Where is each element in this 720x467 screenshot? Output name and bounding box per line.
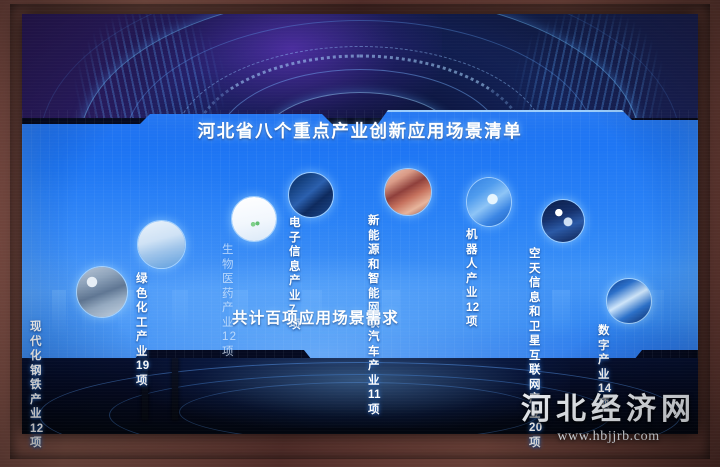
slide-title: 河北省八个重点产业创新应用场景清单 — [0, 118, 720, 143]
watermark: 河北经济网 www.hbjjrb.com — [521, 384, 696, 445]
industry-label-robot: 机器人 产业 12项 — [466, 228, 480, 330]
watermark-url: www.hbjjrb.com — [521, 429, 696, 445]
industry-label-chem: 绿色化工 产业 19项 — [136, 272, 150, 388]
watermark-name: 河北经济网 — [521, 384, 696, 428]
industry-label-bio: 生物医药 产业 12项 — [222, 243, 237, 359]
green-chemical-icon — [137, 220, 186, 269]
biomedicine-icon — [231, 196, 277, 242]
tech-wave-left — [50, 14, 250, 118]
stage-backdrop-top — [22, 14, 698, 118]
smart-vehicle-icon — [384, 168, 432, 216]
steel-plant-icon — [76, 266, 128, 318]
floor-ring-3 — [179, 382, 541, 434]
slide-summary: 共计百项应用场景需求 — [232, 306, 399, 328]
digital-industry-icon — [606, 278, 652, 324]
electronic-chip-icon — [288, 172, 334, 218]
stage-stand-right — [172, 358, 178, 420]
satellite-icon — [541, 199, 585, 243]
robot-icon — [466, 177, 512, 227]
tech-wave-right — [490, 14, 690, 118]
industry-label-steel: 现代化钢铁产业 12项 — [30, 320, 44, 451]
led-video-wall — [22, 14, 698, 434]
photograph-of-led-wall: 河北省八个重点产业创新应用场景清单 现代化钢铁产业 12项 绿色化工 产业 19… — [0, 0, 720, 467]
